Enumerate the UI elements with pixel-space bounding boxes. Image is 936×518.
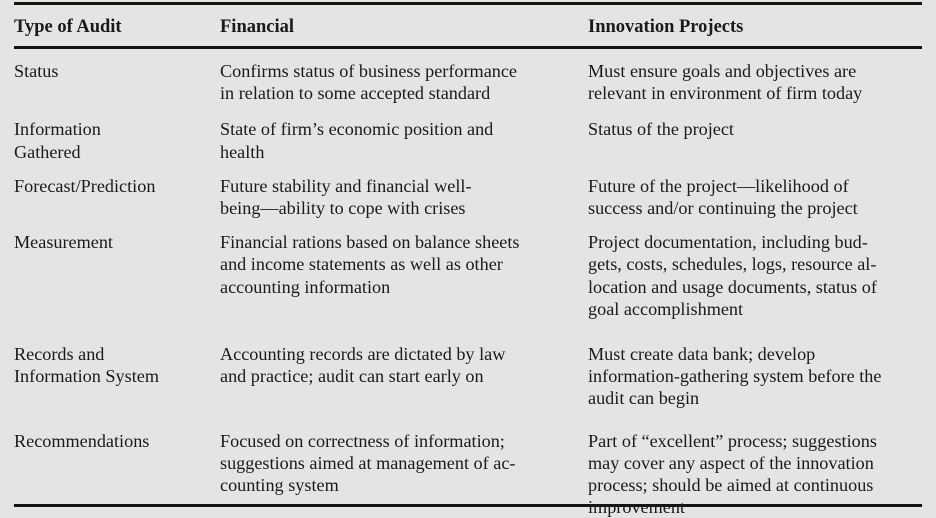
column-header-financial: Financial xyxy=(210,0,579,46)
column-header-label: Financial xyxy=(210,0,579,38)
cell-type-of-audit: Recommendations xyxy=(0,410,210,518)
column-header-label: Innovation Projects xyxy=(579,0,936,38)
cell-financial: Accounting records are dictated by law a… xyxy=(210,320,579,410)
cell-financial: Focused on correctness of information; s… xyxy=(210,410,579,518)
comparison-table: Type of Audit Financial Innovation Proje… xyxy=(0,0,936,518)
cell-innovation-projects: Must create data bank; develop informati… xyxy=(579,320,936,410)
column-header-label: Type of Audit xyxy=(0,0,210,38)
table-header-row: Type of Audit Financial Innovation Proje… xyxy=(0,0,936,46)
cell-type-of-audit: Records and Information System xyxy=(0,320,210,410)
cell-financial: Future stability and financial well- bei… xyxy=(210,163,579,219)
cell-innovation-projects: Future of the project—likelihood of succ… xyxy=(579,163,936,219)
cell-type-of-audit: Measurement xyxy=(0,219,210,320)
cell-financial: Financial rations based on balance sheet… xyxy=(210,219,579,320)
cell-innovation-projects: Project documentation, including bud- ge… xyxy=(579,219,936,320)
cell-financial: Confirms status of business performance … xyxy=(210,46,579,104)
table-row: Status Confirms status of business perfo… xyxy=(0,46,936,104)
table-row: Records and Information System Accountin… xyxy=(0,320,936,410)
cell-type-of-audit: Status xyxy=(0,46,210,104)
table-row: Measurement Financial rations based on b… xyxy=(0,219,936,320)
column-header-type-of-audit: Type of Audit xyxy=(0,0,210,46)
cell-innovation-projects: Part of “excellent” process; suggestions… xyxy=(579,410,936,518)
table-row: Recommendations Focused on correctness o… xyxy=(0,410,936,518)
table-body: Status Confirms status of business perfo… xyxy=(0,46,936,518)
table-row: Information Gathered State of firm’s eco… xyxy=(0,104,936,162)
cell-financial: State of firm’s economic position and he… xyxy=(210,104,579,162)
cell-type-of-audit: Information Gathered xyxy=(0,104,210,162)
audit-comparison-table: Type of Audit Financial Innovation Proje… xyxy=(0,0,936,516)
cell-innovation-projects: Must ensure goals and objectives are rel… xyxy=(579,46,936,104)
table-row: Forecast/Prediction Future stability and… xyxy=(0,163,936,219)
cell-innovation-projects: Status of the project xyxy=(579,104,936,162)
cell-type-of-audit: Forecast/Prediction xyxy=(0,163,210,219)
table-header: Type of Audit Financial Innovation Proje… xyxy=(0,0,936,46)
column-header-innovation-projects: Innovation Projects xyxy=(579,0,936,46)
